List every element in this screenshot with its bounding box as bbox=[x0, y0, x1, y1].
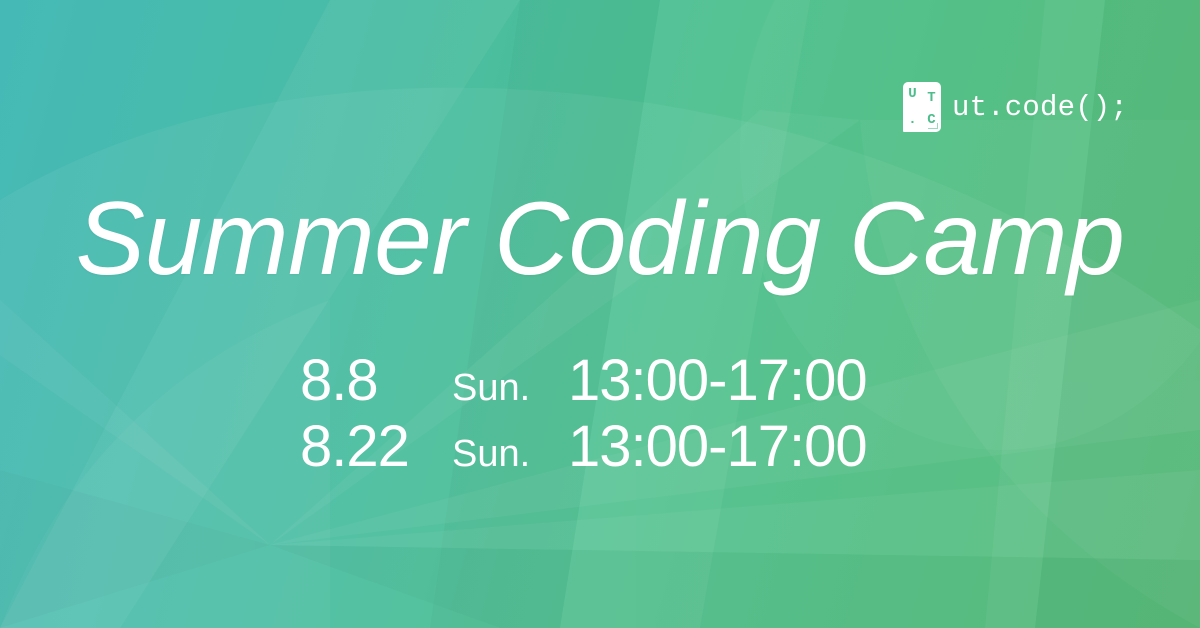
schedule-row: 8.22 Sun. 13:00-17:00 bbox=[300, 418, 900, 476]
schedule-date: 8.22 bbox=[300, 418, 450, 476]
summer-coding-camp-banner: U T . C ut.code(); Summer Coding Camp 8.… bbox=[0, 0, 1200, 628]
schedule-weekday: Sun. bbox=[450, 369, 568, 407]
schedule-list: 8.8 Sun. 13:00-17:00 8.22 Sun. 13:00-17:… bbox=[0, 352, 1200, 476]
brand-wordmark: ut.code(); bbox=[952, 91, 1128, 124]
brand-logo-lockup: U T . C ut.code(); bbox=[903, 82, 1128, 132]
logo-mark-corner-accent bbox=[928, 123, 938, 129]
schedule-date: 8.8 bbox=[300, 352, 450, 410]
page-title: Summer Coding Camp bbox=[0, 184, 1200, 294]
logo-mark-dot: . bbox=[903, 107, 922, 132]
schedule-time-range: 13:00-17:00 bbox=[568, 418, 900, 476]
schedule-row: 8.8 Sun. 13:00-17:00 bbox=[300, 352, 900, 410]
banner-content: U T . C ut.code(); Summer Coding Camp 8.… bbox=[0, 0, 1200, 628]
schedule-time-range: 13:00-17:00 bbox=[568, 352, 900, 410]
logo-mark-letter-u: U bbox=[903, 82, 922, 107]
logo-mark-letter-t: T bbox=[922, 82, 941, 107]
utcode-logo-mark-icon: U T . C bbox=[903, 82, 941, 132]
schedule-weekday: Sun. bbox=[450, 435, 568, 473]
